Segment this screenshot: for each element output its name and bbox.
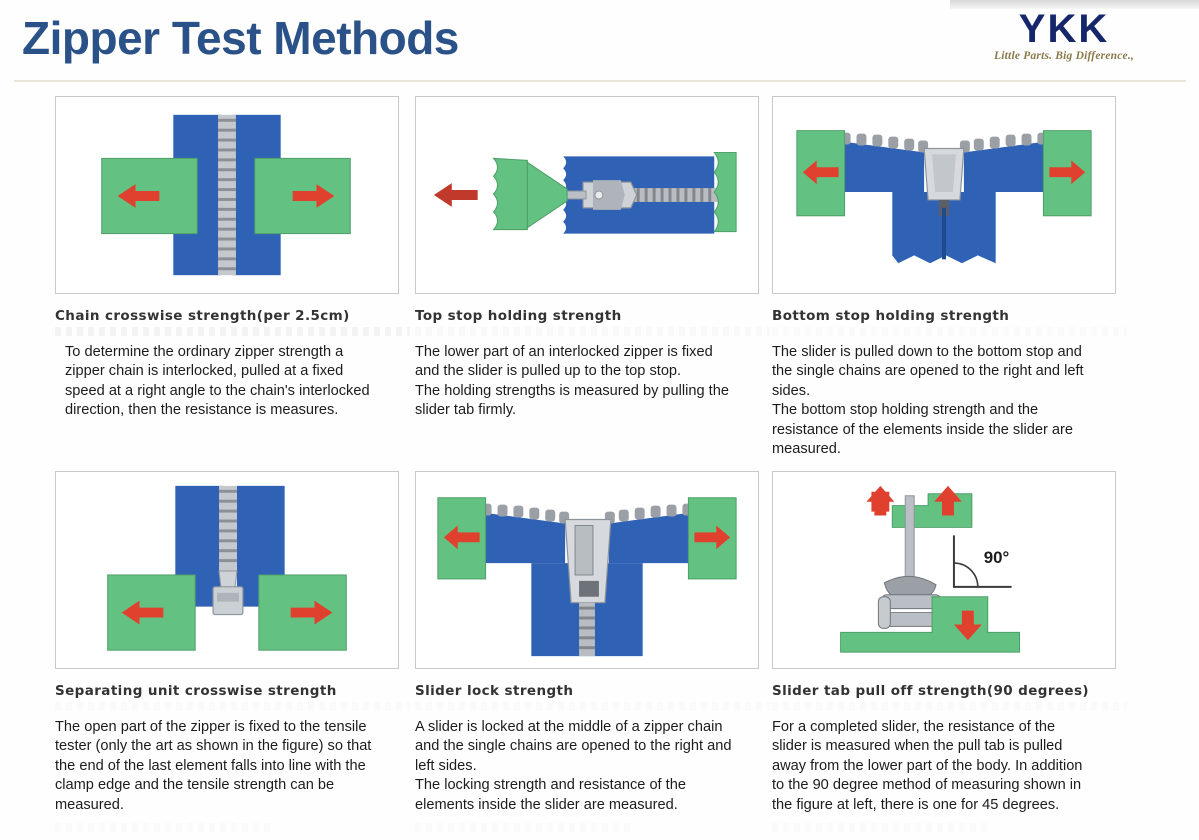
slider-tab-pull-off-illustration: 90° (773, 472, 1115, 668)
chain-seam (942, 208, 946, 259)
panel-slider-tab-pull-off: 90° Slider tab pull off strength(90 degr… (772, 471, 1127, 832)
ykk-logo: YKK Little Parts. Big Difference., (959, 10, 1169, 62)
ykk-logo-tagline: Little Parts. Big Difference., (959, 50, 1169, 62)
slider-lock-mechanism (579, 581, 599, 597)
slider-body-lower-jaw (882, 613, 940, 627)
panel-separating-unit-crosswise: Separating unit crosswise strength The o… (55, 471, 410, 832)
upper-clamp (892, 494, 972, 528)
panel-title: Chain crosswise strength(per 2.5cm) (55, 308, 410, 324)
slider-lock-illustration (416, 472, 758, 668)
angle-arc (954, 563, 978, 587)
chain-crosswise-illustration (56, 97, 398, 293)
slider-lock-figure (415, 471, 759, 669)
panel-chain-crosswise: Chain crosswise strength(per 2.5cm) To d… (55, 96, 410, 421)
slider-pin (595, 191, 603, 199)
page-title: Zipper Test Methods (22, 11, 459, 65)
slider-neck (219, 571, 237, 589)
separating-unit-crosswise-illustration (56, 472, 398, 668)
panel-body: For a completed slider, the resistance o… (772, 718, 1127, 815)
panel-body: The slider is pulled down to the bottom … (772, 343, 1127, 459)
panel-body: The open part of the zipper is fixed to … (55, 718, 410, 815)
panel-bottom-stop-holding: Bottom stop holding strength The slider … (772, 96, 1127, 459)
panel-body: The lower part of an interlocked zipper … (415, 343, 770, 421)
caption-ghost-line (772, 702, 1127, 711)
angle-label: 90° (984, 548, 1010, 567)
panel-title: Top stop holding strength (415, 308, 770, 324)
panel-slider-lock: Slider lock strength A slider is locked … (415, 471, 770, 832)
panel-title: Slider tab pull off strength(90 degrees) (772, 683, 1127, 699)
arrow-left-icon (434, 183, 478, 207)
caption-ghost-line (772, 327, 1127, 336)
clamp-left-wedge (527, 162, 567, 227)
slider-tab-pull-off-figure: 90° (772, 471, 1116, 669)
slide-page: Zipper Test Methods YKK Little Parts. Bi… (0, 0, 1199, 840)
separating-unit-label (217, 593, 239, 602)
caption-ghost-line (55, 327, 410, 336)
zipper-slider-shade (932, 154, 956, 192)
panel-title: Slider lock strength (415, 683, 770, 699)
panel-top-stop-holding: Top stop holding strength The lower part… (415, 96, 770, 421)
caption-ghost-line (55, 702, 410, 711)
panel-body: To determine the ordinary zipper strengt… (55, 343, 410, 421)
caption-ghost-line (415, 702, 770, 711)
top-stop-holding-figure (415, 96, 759, 294)
caption-ghost-line-bottom (55, 823, 275, 832)
clamp-left-body (494, 158, 528, 229)
pull-rod (905, 496, 914, 583)
clamp-right (714, 152, 736, 231)
panel-title: Bottom stop holding strength (772, 308, 1127, 324)
bottom-stop-holding-figure (772, 96, 1116, 294)
slider-nose (878, 597, 890, 629)
separating-unit-crosswise-figure (55, 471, 399, 669)
top-stop-holding-illustration (416, 97, 758, 293)
zipper-teeth (627, 188, 718, 202)
caption-ghost-line-bottom (415, 823, 635, 832)
chain-crosswise-figure (55, 96, 399, 294)
arrow-up-icon (866, 486, 894, 516)
panel-body: A slider is locked at the middle of a zi… (415, 718, 770, 815)
panel-title: Separating unit crosswise strength (55, 683, 410, 699)
slider-pull-tab (575, 525, 593, 574)
ykk-logo-mark: YKK (959, 10, 1169, 48)
bottom-stop-holding-illustration (773, 97, 1115, 293)
caption-ghost-line-bottom (772, 823, 992, 832)
caption-ghost-line (415, 327, 770, 336)
slider-body-upper-jaw (882, 595, 940, 609)
header-divider (14, 80, 1186, 82)
